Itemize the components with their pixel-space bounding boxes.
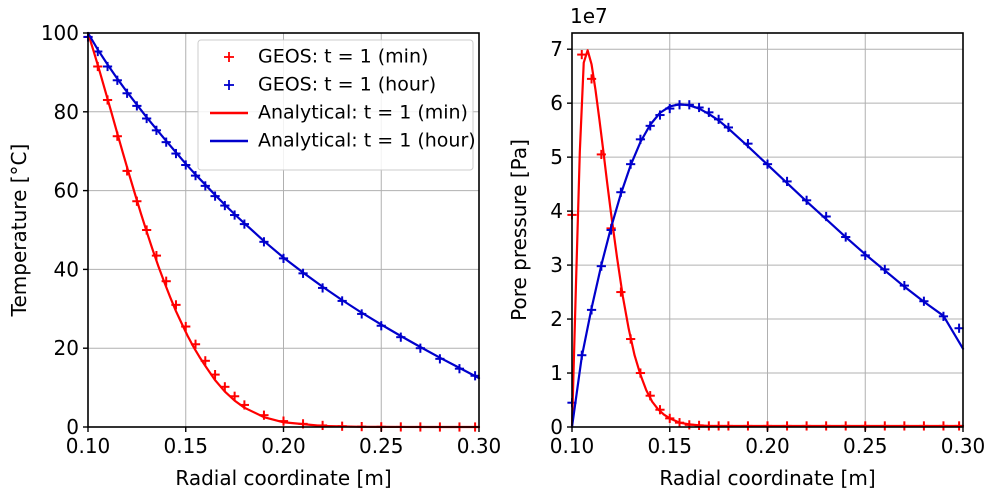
x-tick-label: 0.20 [745, 434, 790, 458]
y-tick-label: 6 [550, 91, 563, 115]
x-axis-label: Radial coordinate [m] [659, 466, 875, 490]
x-tick-label: 0.15 [163, 434, 208, 458]
x-tick-label: 0.30 [941, 434, 986, 458]
y-tick-label: 100 [41, 21, 79, 45]
legend-item-label: GEOS: t = 1 (hour) [258, 74, 436, 96]
y-tick-label: 0 [66, 415, 79, 439]
pore-pressure-plot-svg[interactable]: 0.100.150.200.250.30012345671e7Radial co… [500, 0, 1000, 500]
legend-item-label: GEOS: t = 1 (min) [258, 46, 428, 68]
y-tick-label: 20 [54, 336, 79, 360]
y-tick-label: 0 [550, 415, 563, 439]
y-tick-label: 4 [550, 199, 563, 223]
legend-item-label: Analytical: t = 1 (hour) [258, 130, 476, 152]
chart-panel-pore-pressure: 0.100.150.200.250.30012345671e7Radial co… [500, 0, 1000, 500]
y-tick-label: 60 [54, 179, 79, 203]
y-axis-offset-label: 1e7 [570, 4, 608, 28]
grid-lines [572, 33, 963, 427]
chart-panel-temperature: 0.100.150.200.250.30020406080100Radial c… [0, 0, 500, 500]
x-axis-label: Radial coordinate [m] [175, 466, 391, 490]
y-tick-label: 40 [54, 257, 79, 281]
tick-marks [567, 49, 963, 432]
y-tick-label: 5 [550, 145, 563, 169]
figure-canvas: 0.100.150.200.250.30020406080100Radial c… [0, 0, 1000, 500]
x-tick-label: 0.25 [843, 434, 888, 458]
x-tick-label: 0.30 [457, 434, 500, 458]
y-axis-label: Temperature [°C] [7, 144, 31, 318]
x-tick-label: 0.20 [261, 434, 306, 458]
legend[interactable]: GEOS: t = 1 (min)GEOS: t = 1 (hour)Analy… [198, 40, 476, 170]
y-tick-label: 3 [550, 253, 563, 277]
y-tick-label: 7 [550, 37, 563, 61]
x-tick-label: 0.15 [647, 434, 692, 458]
y-tick-label: 2 [550, 307, 563, 331]
temperature-plot-svg[interactable]: 0.100.150.200.250.30020406080100Radial c… [0, 0, 500, 500]
x-tick-label: 0.25 [359, 434, 404, 458]
legend-item-label: Analytical: t = 1 (min) [258, 102, 468, 124]
y-tick-label: 1 [550, 361, 563, 385]
y-axis-label: Pore pressure [Pa] [507, 139, 531, 321]
y-tick-label: 80 [54, 100, 79, 124]
series-markers-geos-t-1-hour- [567, 100, 963, 407]
